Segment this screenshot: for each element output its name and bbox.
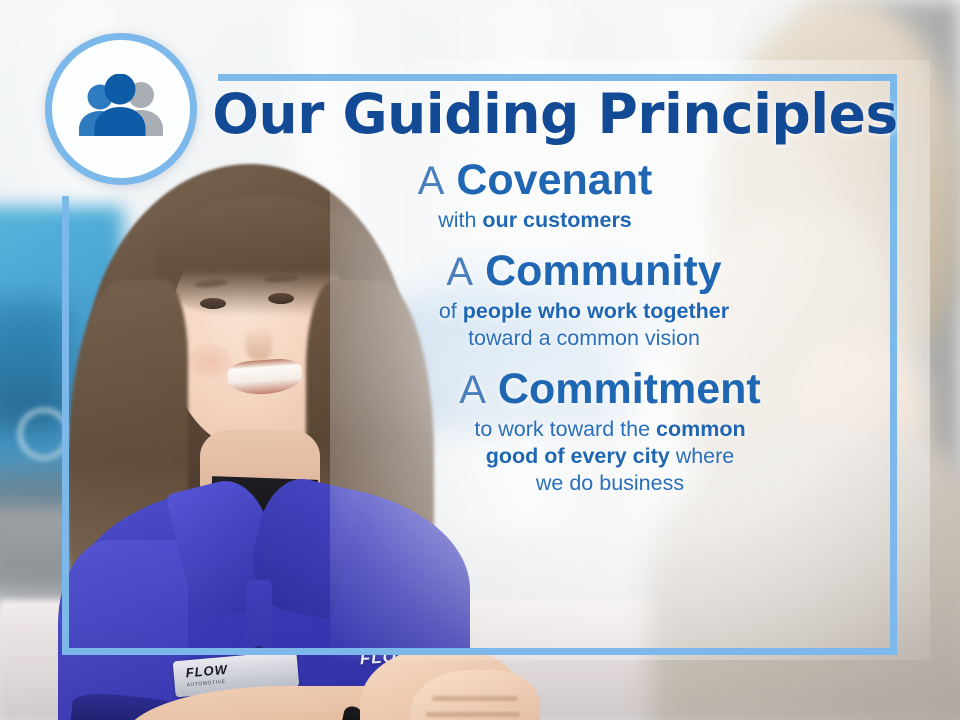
principle-subtext-part: where: [670, 444, 735, 468]
principle-article: A: [418, 159, 445, 203]
principle-article: A: [446, 250, 473, 294]
principle-headline: A Community: [268, 250, 900, 294]
principle-subtext-part: to work toward the: [474, 417, 656, 441]
poster-canvas: FLOW AUTOMOTIVE FLOW: [0, 0, 960, 720]
principle-commitment: A Commitment to work toward the common g…: [210, 368, 900, 497]
subject-polo-sleeve: [58, 540, 188, 720]
principle-subtext-line: toward a common vision: [268, 325, 900, 352]
poster-copy: Our Guiding Principles A Covenant with o…: [210, 86, 900, 497]
principle-subtext: with our customers: [210, 207, 860, 234]
principle-subtext: to work toward the common good of every …: [320, 416, 900, 497]
principle-community: A Community of people who work together …: [210, 250, 900, 352]
principle-article: A: [459, 368, 486, 412]
principle-covenant: A Covenant with our customers: [210, 159, 900, 234]
principle-subtext-part: of: [439, 299, 463, 323]
principle-keyword: Commitment: [498, 365, 761, 413]
people-group-icon: [45, 33, 197, 185]
principle-subtext-part: good of every city: [486, 444, 670, 468]
principle-subtext: of people who work together toward a com…: [268, 298, 900, 352]
principle-keyword: Community: [485, 247, 722, 295]
principle-subtext-part: with: [438, 208, 482, 232]
principle-subtext-line: good of every city where: [320, 443, 900, 470]
subject-finger: [432, 696, 518, 701]
name-badge-subtext: AUTOMOTIVE: [187, 679, 226, 688]
principle-subtext-part: common: [656, 417, 746, 441]
principle-headline: A Covenant: [210, 159, 860, 203]
principle-subtext-part: people who work together: [463, 299, 729, 323]
principle-subtext-line: we do business: [320, 470, 900, 497]
page-title: Our Guiding Principles: [210, 86, 900, 143]
principle-subtext-part: we do business: [536, 471, 684, 495]
subject-finger: [426, 712, 520, 717]
principle-subtext-line: of people who work together: [268, 298, 900, 325]
principle-subtext-part: our customers: [482, 208, 631, 232]
principle-subtext-part: toward a common vision: [468, 326, 700, 350]
name-badge-brand: FLOW: [185, 662, 228, 681]
principle-keyword: Covenant: [456, 156, 652, 204]
principle-headline: A Commitment: [320, 368, 900, 412]
principle-subtext-line: to work toward the common: [320, 416, 900, 443]
